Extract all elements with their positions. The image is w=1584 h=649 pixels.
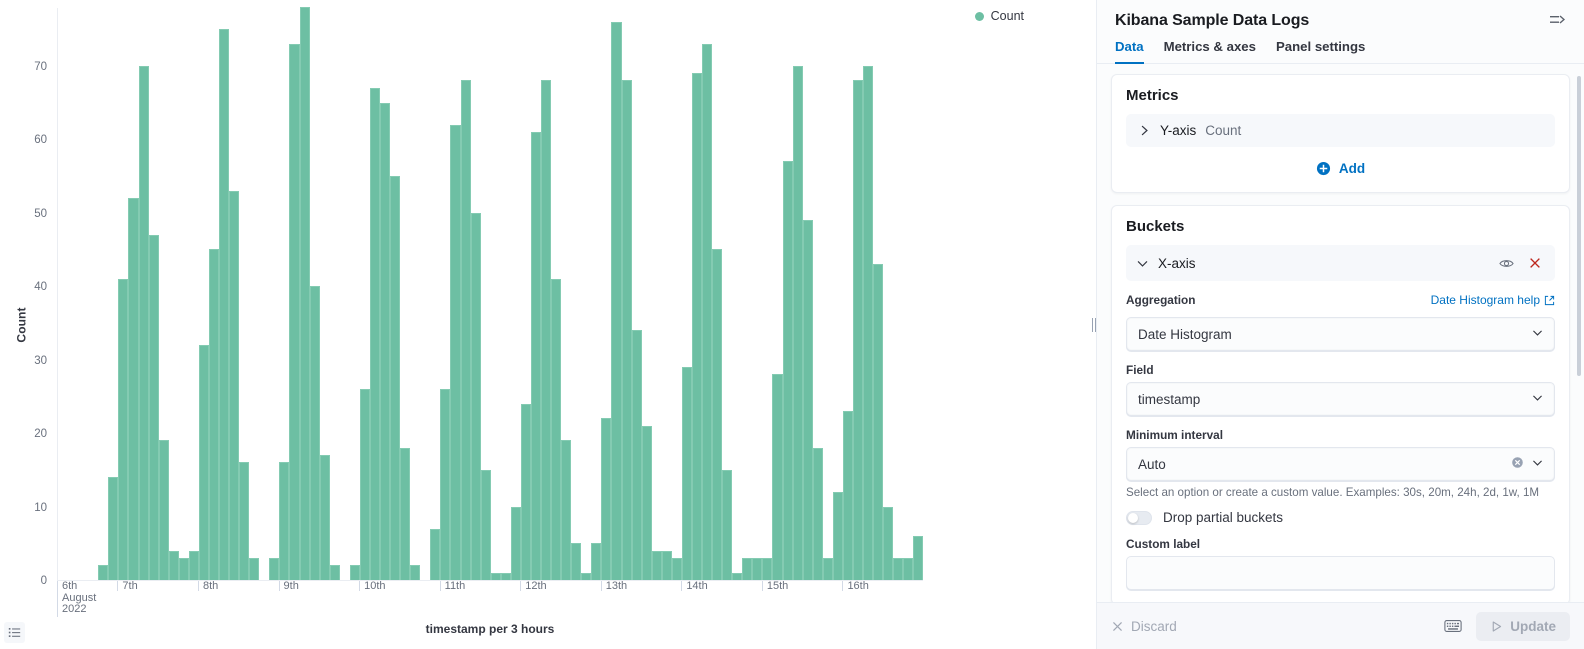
minimum-interval-select[interactable]: Auto: [1126, 447, 1555, 481]
drop-partial-buckets-toggle[interactable]: [1126, 511, 1152, 525]
y-axis-tick-label: 10: [34, 502, 47, 514]
bar[interactable]: [601, 418, 611, 580]
x-axis-tick-label: 8th: [198, 581, 218, 591]
aggregation-select[interactable]: Date Histogram: [1126, 317, 1555, 351]
bar[interactable]: [149, 235, 159, 580]
bar[interactable]: [461, 80, 471, 580]
tab-metrics-and-axes[interactable]: Metrics & axes: [1164, 39, 1256, 64]
bar[interactable]: [813, 448, 823, 580]
bar[interactable]: [179, 558, 189, 580]
update-label: Update: [1510, 619, 1556, 634]
custom-label-label: Custom label: [1126, 537, 1555, 551]
bar[interactable]: [330, 565, 340, 580]
bar[interactable]: [692, 73, 702, 580]
bar[interactable]: [662, 551, 672, 580]
bar[interactable]: [722, 470, 732, 580]
legend-toggle-button[interactable]: [4, 622, 25, 643]
help-link-label: Date Histogram help: [1431, 293, 1540, 307]
bar[interactable]: [128, 198, 138, 580]
x-axis-tick-label: 12th: [520, 581, 546, 591]
bar[interactable]: [350, 565, 360, 580]
discard-label: Discard: [1131, 619, 1177, 634]
chart-pane: Count Count 010203040506070 6thAugust202…: [0, 0, 1096, 649]
bar[interactable]: [380, 103, 390, 581]
close-icon: [1528, 256, 1542, 270]
bar[interactable]: [430, 529, 440, 580]
y-axis-tick-label: 30: [34, 355, 47, 367]
bar[interactable]: [159, 440, 169, 580]
clear-circle-icon[interactable]: [1511, 456, 1524, 472]
aggregation-field-row: Aggregation Date Histogram help: [1126, 293, 1555, 312]
plus-circle-icon: [1316, 161, 1331, 176]
bar[interactable]: [591, 543, 601, 580]
metrics-card-title: Metrics: [1126, 87, 1555, 104]
editor-scrollbar[interactable]: [1577, 76, 1581, 376]
bar[interactable]: [581, 573, 591, 580]
external-link-icon: [1544, 295, 1555, 306]
field-select[interactable]: timestamp: [1126, 382, 1555, 416]
bar[interactable]: [118, 279, 128, 580]
bar[interactable]: [481, 470, 491, 580]
plot-area: 010203040506070: [57, 8, 923, 581]
tab-data[interactable]: Data: [1115, 39, 1144, 64]
bar[interactable]: [672, 558, 682, 580]
bar[interactable]: [762, 558, 772, 580]
bar[interactable]: [450, 125, 460, 580]
bar[interactable]: [652, 551, 662, 580]
bar[interactable]: [289, 44, 299, 580]
add-metric-label: Add: [1339, 161, 1365, 176]
custom-label-input[interactable]: [1126, 556, 1555, 590]
bar[interactable]: [772, 374, 782, 580]
bar[interactable]: [471, 213, 481, 580]
page-title: Kibana Sample Data Logs: [1115, 12, 1566, 30]
bar[interactable]: [239, 462, 249, 580]
bar[interactable]: [752, 558, 762, 580]
bar[interactable]: [622, 80, 632, 580]
bar[interactable]: [199, 345, 209, 580]
bar[interactable]: [249, 558, 259, 580]
bar[interactable]: [551, 279, 561, 580]
bar[interactable]: [209, 249, 219, 580]
x-axis-tick-label: 16th: [842, 581, 868, 591]
bar[interactable]: [108, 477, 118, 580]
x-axis-tick-label: 7th: [117, 581, 137, 591]
add-metric-button[interactable]: Add: [1126, 147, 1555, 178]
bar[interactable]: [611, 22, 621, 580]
chevron-down-icon: [1531, 456, 1544, 472]
bar[interactable]: [803, 220, 813, 580]
bar[interactable]: [269, 558, 279, 580]
resize-grip-line: [1092, 318, 1093, 332]
toggle-knob: [1128, 513, 1138, 523]
bar[interactable]: [279, 462, 289, 580]
editor-header: Kibana Sample Data Logs: [1097, 0, 1584, 30]
x-axis-tick-label: 10th: [359, 581, 385, 591]
y-axis-tick-label: 60: [34, 134, 47, 146]
keyboard-icon: [1444, 619, 1462, 633]
panel-resize-handle[interactable]: [1090, 0, 1098, 649]
close-icon: [1111, 620, 1124, 633]
bar[interactable]: [491, 573, 501, 580]
date-histogram-help-link[interactable]: Date Histogram help: [1431, 293, 1555, 307]
tab-panel-settings[interactable]: Panel settings: [1276, 39, 1365, 64]
bar[interactable]: [511, 507, 521, 580]
list-icon: [8, 626, 21, 639]
bar[interactable]: [501, 573, 511, 580]
bar[interactable]: [189, 551, 199, 580]
chevron-down-icon: [1136, 257, 1149, 270]
y-axis-tick-label: 50: [34, 208, 47, 220]
chart-legend[interactable]: Count: [975, 9, 1024, 23]
drop-partial-buckets-row[interactable]: Drop partial buckets: [1126, 510, 1555, 525]
metric-row-y-axis[interactable]: Y-axis Count: [1126, 114, 1555, 147]
metric-row-value: Count: [1205, 123, 1241, 138]
update-button[interactable]: Update: [1476, 612, 1570, 641]
bar[interactable]: [843, 411, 853, 580]
buckets-card-title: Buckets: [1126, 218, 1555, 235]
bar[interactable]: [400, 448, 410, 580]
chevron-down-icon: [1531, 326, 1544, 342]
bar[interactable]: [360, 389, 370, 580]
bar-series: [58, 8, 923, 580]
bar[interactable]: [742, 558, 752, 580]
drop-partial-buckets-label: Drop partial buckets: [1163, 510, 1283, 525]
editor-tabs: Data Metrics & axes Panel settings: [1097, 30, 1584, 64]
y-axis-tick-label: 70: [34, 61, 47, 73]
bar[interactable]: [320, 455, 330, 580]
bar[interactable]: [521, 404, 531, 580]
editor-footer: Discard: [1097, 602, 1584, 649]
bar[interactable]: [702, 44, 712, 580]
collapse-panel-icon: [1549, 12, 1565, 28]
collapse-panel-button[interactable]: [1544, 7, 1570, 33]
bar[interactable]: [139, 66, 149, 580]
bar[interactable]: [440, 389, 450, 580]
minimum-interval-hint: Select an option or create a custom valu…: [1126, 485, 1555, 500]
buckets-card: Buckets X-axis: [1111, 205, 1570, 602]
bar[interactable]: [642, 426, 652, 580]
bar[interactable]: [863, 66, 873, 580]
bar[interactable]: [883, 507, 893, 580]
bar[interactable]: [893, 558, 903, 580]
bar[interactable]: [561, 440, 571, 580]
metrics-card: Metrics Y-axis Count Add: [1111, 74, 1570, 193]
remove-bucket-button[interactable]: [1525, 253, 1545, 273]
bar[interactable]: [632, 330, 642, 580]
bar[interactable]: [913, 536, 923, 580]
bar[interactable]: [903, 558, 913, 580]
play-icon: [1490, 620, 1503, 633]
legend-item-label: Count: [991, 9, 1024, 23]
bucket-x-axis-header[interactable]: X-axis: [1126, 245, 1555, 281]
keyboard-shortcuts-button[interactable]: [1440, 615, 1466, 637]
y-axis-tick-label: 40: [34, 281, 47, 293]
x-axis-tick-label: 6thAugust2022: [57, 581, 96, 617]
x-axis-tick-label: 11th: [440, 581, 466, 591]
bar[interactable]: [732, 573, 742, 580]
metric-row-label: Y-axis: [1160, 123, 1196, 138]
eye-icon: [1499, 256, 1514, 271]
bar[interactable]: [541, 80, 551, 580]
discard-button[interactable]: Discard: [1111, 619, 1177, 634]
x-axis-ticks: 6thAugust20227th8th9th10th11th12th13th14…: [57, 581, 923, 621]
bar[interactable]: [531, 132, 541, 580]
bar[interactable]: [390, 176, 400, 580]
field-value: timestamp: [1138, 392, 1200, 407]
x-axis-title: timestamp per 3 hours: [57, 622, 923, 636]
bucket-axis-label: X-axis: [1158, 256, 1487, 271]
bar[interactable]: [300, 7, 310, 580]
bar[interactable]: [229, 191, 239, 580]
resize-grip-line: [1095, 318, 1096, 332]
x-axis-tick-label: 13th: [601, 581, 627, 591]
bar[interactable]: [370, 88, 380, 580]
bar[interactable]: [219, 29, 229, 580]
bar[interactable]: [712, 249, 722, 580]
bar[interactable]: [833, 492, 843, 580]
bar[interactable]: [873, 264, 883, 580]
bar[interactable]: [793, 66, 803, 580]
y-axis-tick-label: 20: [34, 428, 47, 440]
visualization-editor-panel: Kibana Sample Data Logs Data Metrics & a…: [1096, 0, 1584, 649]
minimum-interval-label: Minimum interval: [1126, 428, 1555, 442]
bar[interactable]: [410, 565, 420, 580]
bar[interactable]: [682, 367, 692, 580]
toggle-visibility-button[interactable]: [1496, 253, 1516, 273]
aggregation-value: Date Histogram: [1138, 327, 1232, 342]
x-axis-tick-label: 15th: [762, 581, 788, 591]
kibana-visualize-app: Count Count 010203040506070 6thAugust202…: [0, 0, 1584, 649]
y-axis-title: Count: [15, 307, 29, 342]
chevron-right-icon: [1138, 124, 1151, 137]
legend-color-dot: [975, 12, 984, 21]
bar[interactable]: [169, 551, 179, 580]
bar[interactable]: [98, 565, 108, 580]
bar[interactable]: [853, 80, 863, 580]
editor-body: Metrics Y-axis Count Add: [1097, 64, 1584, 602]
y-axis-tick-label: 0: [41, 575, 47, 587]
bar[interactable]: [571, 543, 581, 580]
bar[interactable]: [783, 161, 793, 580]
aggregation-label: Aggregation: [1126, 293, 1195, 307]
field-label: Field: [1126, 363, 1555, 377]
bar[interactable]: [823, 558, 833, 580]
chevron-down-icon: [1531, 391, 1544, 407]
bar[interactable]: [310, 286, 320, 580]
minimum-interval-value: Auto: [1138, 457, 1166, 472]
x-axis-tick-label: 14th: [681, 581, 707, 591]
x-axis-tick-label: 9th: [279, 581, 299, 591]
